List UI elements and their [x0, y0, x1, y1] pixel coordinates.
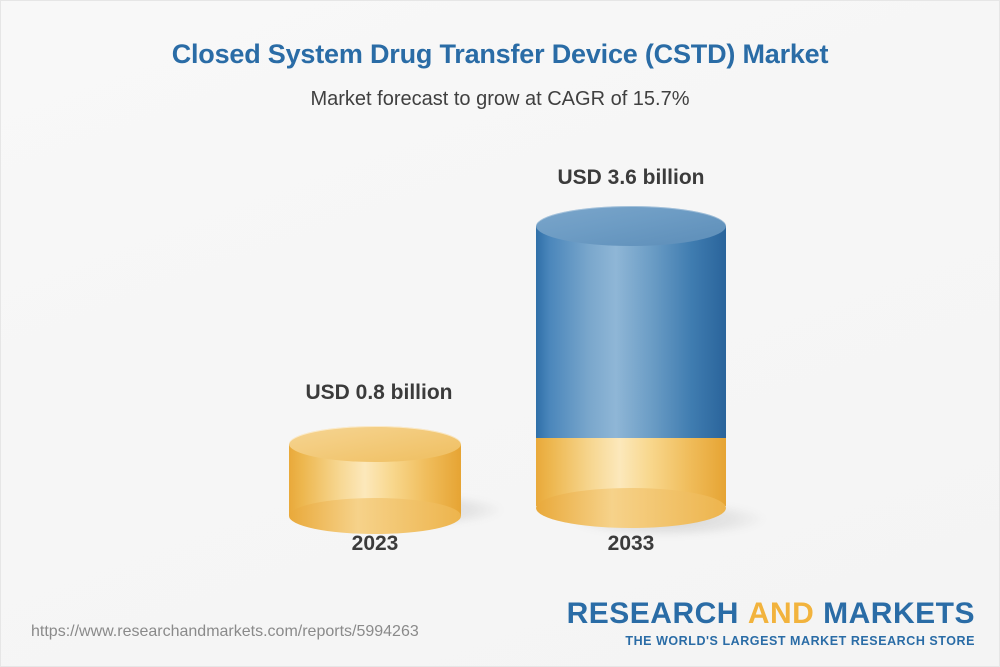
brand-word-research: RESEARCH: [567, 597, 739, 630]
chart-canvas: Closed System Drug Transfer Device (CSTD…: [0, 0, 1000, 667]
brand-logo-wordmark: RESEARCH AND MARKETS: [567, 599, 975, 629]
cylinder-2033-bottom-cap: [536, 488, 726, 528]
cylinder-2033[interactable]: [536, 206, 726, 546]
report-url[interactable]: https://www.researchandmarkets.com/repor…: [31, 623, 419, 641]
brand-logo[interactable]: RESEARCH AND MARKETS THE WORLD'S LARGEST…: [567, 599, 975, 648]
brand-tagline: THE WORLD'S LARGEST MARKET RESEARCH STOR…: [567, 634, 975, 648]
brand-word-markets: MARKETS: [823, 597, 975, 630]
plot-area: USD 0.8 billion 2023 USD 3.6 billion: [1, 1, 1000, 667]
cylinder-2023-top-cap: [289, 426, 461, 462]
cylinder-2033-top-cap: [536, 206, 726, 246]
cylinder-2033-growth-body: [536, 226, 726, 438]
value-label-2023: USD 0.8 billion: [239, 381, 519, 405]
category-label-2033: 2033: [491, 532, 771, 556]
cylinder-2023[interactable]: [289, 426, 461, 530]
value-label-2033: USD 3.6 billion: [491, 166, 771, 190]
category-label-2023: 2023: [235, 532, 515, 556]
cylinder-2023-bottom-cap: [289, 498, 461, 534]
cylinder-2033-base-body-overlay: [536, 438, 726, 488]
brand-word-and: AND: [748, 597, 815, 630]
